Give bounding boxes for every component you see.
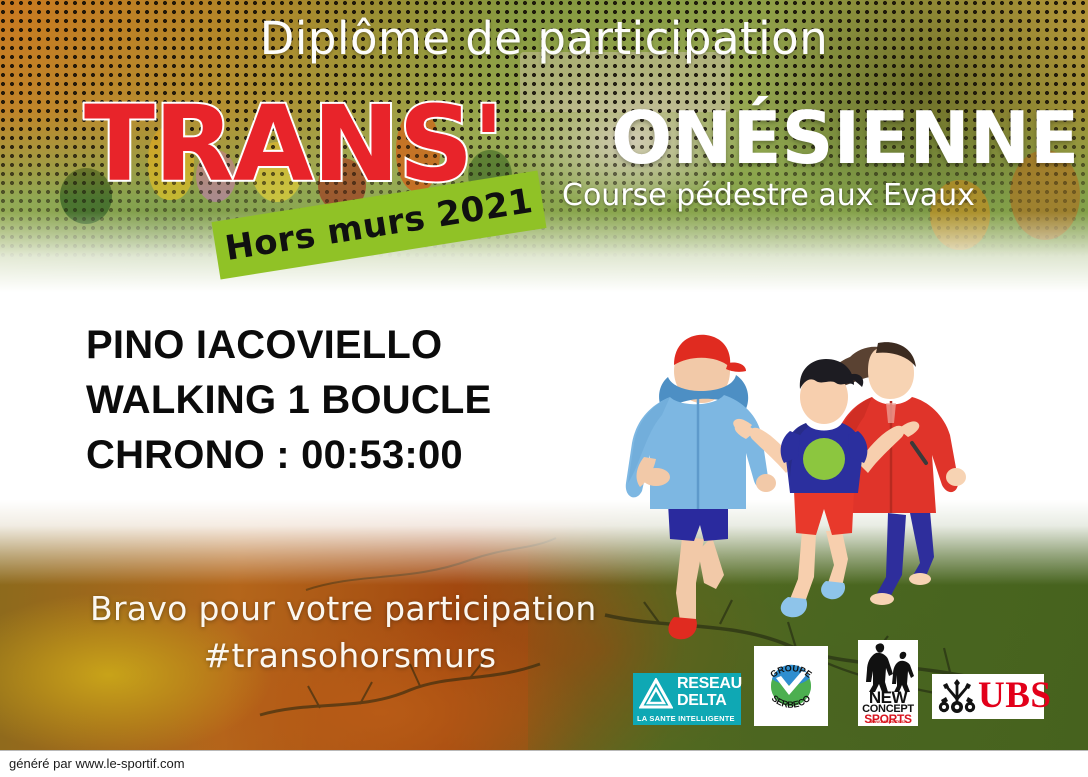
ncs-url: www.ncsports.ch: [860, 719, 916, 724]
header-banner: Diplôme de participation TRANS' ONÉSIENN…: [0, 0, 1088, 292]
serbeco-mark-icon: GROUPE SERBECO: [756, 648, 826, 724]
closing-line-1: Bravo pour votre participation: [90, 586, 650, 633]
runners-svg: [620, 325, 1088, 645]
ubs-wordmark: UBS: [978, 677, 1051, 715]
participant-chrono: CHRONO : 00:53:00: [86, 428, 646, 483]
delta-name-line2: DELTA: [677, 693, 726, 709]
participant-category: WALKING 1 BOUCLE: [86, 373, 646, 428]
ncs-runners-icon: [858, 640, 918, 692]
event-logo: TRANS' ONÉSIENNE Course pédestre aux Eva…: [84, 92, 1044, 232]
sponsor-logo-ubs[interactable]: UBS: [932, 674, 1044, 719]
logo-trans-text: TRANS': [84, 92, 503, 196]
runners-illustration: [620, 325, 1088, 645]
closing-line-2: #transohorsmurs: [90, 633, 650, 680]
delta-triangle-icon: [639, 678, 673, 709]
sponsor-logo-new-concept-sports[interactable]: NEW CONCEPT SPORTS www.ncsports.ch: [858, 640, 918, 726]
sponsor-logo-groupe-serbeco[interactable]: GROUPE SERBECO: [754, 646, 828, 726]
footer-bar: généré par www.le-sportif.com: [0, 750, 1088, 777]
delta-name-line1: RESEAU: [677, 676, 742, 692]
closing-message: Bravo pour votre participation #transoho…: [90, 586, 650, 680]
sponsor-logo-reseau-delta[interactable]: RESEAU DELTA LA SANTE INTELLIGENTE: [633, 673, 741, 725]
page-title: Diplôme de participation: [0, 12, 1088, 65]
logo-subtitle: Course pédestre aux Evaux: [562, 178, 975, 213]
delta-tagline: LA SANTE INTELLIGENTE: [637, 714, 737, 723]
footer-generated-by: généré par www.le-sportif.com: [9, 756, 185, 771]
ubs-three-keys-icon: [935, 677, 979, 717]
participation-diploma: Diplôme de participation TRANS' ONÉSIENN…: [0, 0, 1088, 777]
participant-name: PINO IACOVIELLO: [86, 318, 646, 373]
participant-details: PINO IACOVIELLO WALKING 1 BOUCLE CHRONO …: [86, 318, 646, 484]
logo-onesienne-text: ONÉSIENNE: [611, 102, 1079, 174]
